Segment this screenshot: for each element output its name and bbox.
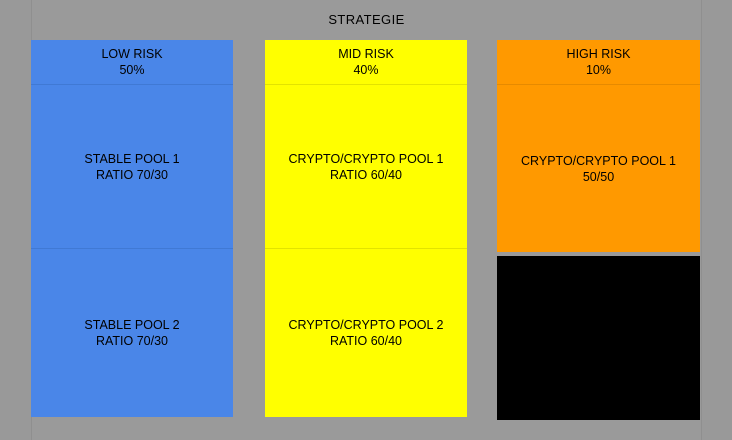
pool-cell[interactable]: CRYPTO/CRYPTO POOL 1 50/50: [497, 85, 700, 252]
column-header-low-risk[interactable]: LOW RISK 50%: [31, 40, 233, 85]
pool-cell-empty[interactable]: [497, 256, 700, 420]
pool-name: CRYPTO/CRYPTO POOL 1: [289, 151, 444, 167]
pool-name: CRYPTO/CRYPTO POOL 2: [289, 317, 444, 333]
pool-name: CRYPTO/CRYPTO POOL 1: [521, 153, 676, 169]
allocation-percent: 10%: [586, 62, 611, 78]
column-header-mid-risk[interactable]: MID RISK 40%: [265, 40, 467, 85]
risk-level-label: LOW RISK: [101, 46, 162, 62]
pool-cell[interactable]: STABLE POOL 2 RATIO 70/30: [31, 249, 233, 417]
allocation-percent: 40%: [353, 62, 378, 78]
pool-cell[interactable]: CRYPTO/CRYPTO POOL 2 RATIO 60/40: [265, 249, 467, 417]
pool-name: STABLE POOL 2: [84, 317, 179, 333]
pool-ratio: 50/50: [583, 169, 614, 185]
column-header-high-risk[interactable]: HIGH RISK 10%: [497, 40, 700, 85]
page-title: STRATEGIE: [31, 0, 702, 38]
allocation-percent: 50%: [119, 62, 144, 78]
pool-cell[interactable]: STABLE POOL 1 RATIO 70/30: [31, 85, 233, 249]
strategy-allocation-board: STRATEGIE LOW RISK 50% STABLE POOL 1 RAT…: [0, 0, 732, 440]
column-high-risk: HIGH RISK 10% CRYPTO/CRYPTO POOL 1 50/50: [497, 40, 700, 420]
pool-ratio: RATIO 60/40: [330, 167, 402, 183]
pool-cell[interactable]: CRYPTO/CRYPTO POOL 1 RATIO 60/40: [265, 85, 467, 249]
pool-name: STABLE POOL 1: [84, 151, 179, 167]
column-low-risk: LOW RISK 50% STABLE POOL 1 RATIO 70/30 S…: [31, 40, 233, 417]
column-mid-risk: MID RISK 40% CRYPTO/CRYPTO POOL 1 RATIO …: [265, 40, 467, 417]
pool-ratio: RATIO 70/30: [96, 167, 168, 183]
risk-level-label: MID RISK: [338, 46, 394, 62]
risk-level-label: HIGH RISK: [567, 46, 631, 62]
pool-ratio: RATIO 70/30: [96, 333, 168, 349]
pool-ratio: RATIO 60/40: [330, 333, 402, 349]
